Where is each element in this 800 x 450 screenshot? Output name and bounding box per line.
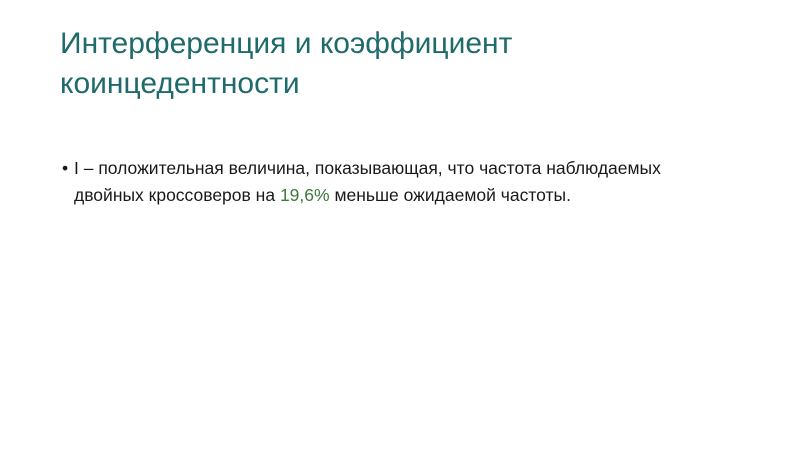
presentation-slide: Интерференция и коэффициент коинцедентно… [0,0,800,450]
highlighted-percentage: 19,6% [280,185,330,205]
page-title: Интерференция и коэффициент коинцедентно… [60,24,720,104]
list-item-text-after: меньше ожидаемой частоты. [330,185,571,205]
slide-body: • I – положительная величина, показывающ… [60,155,680,209]
list-item-text: I – положительная величина, показывающая… [74,158,661,205]
list-item: • I – положительная величина, показывающ… [60,155,680,209]
bullet-marker-icon: • [62,155,72,182]
